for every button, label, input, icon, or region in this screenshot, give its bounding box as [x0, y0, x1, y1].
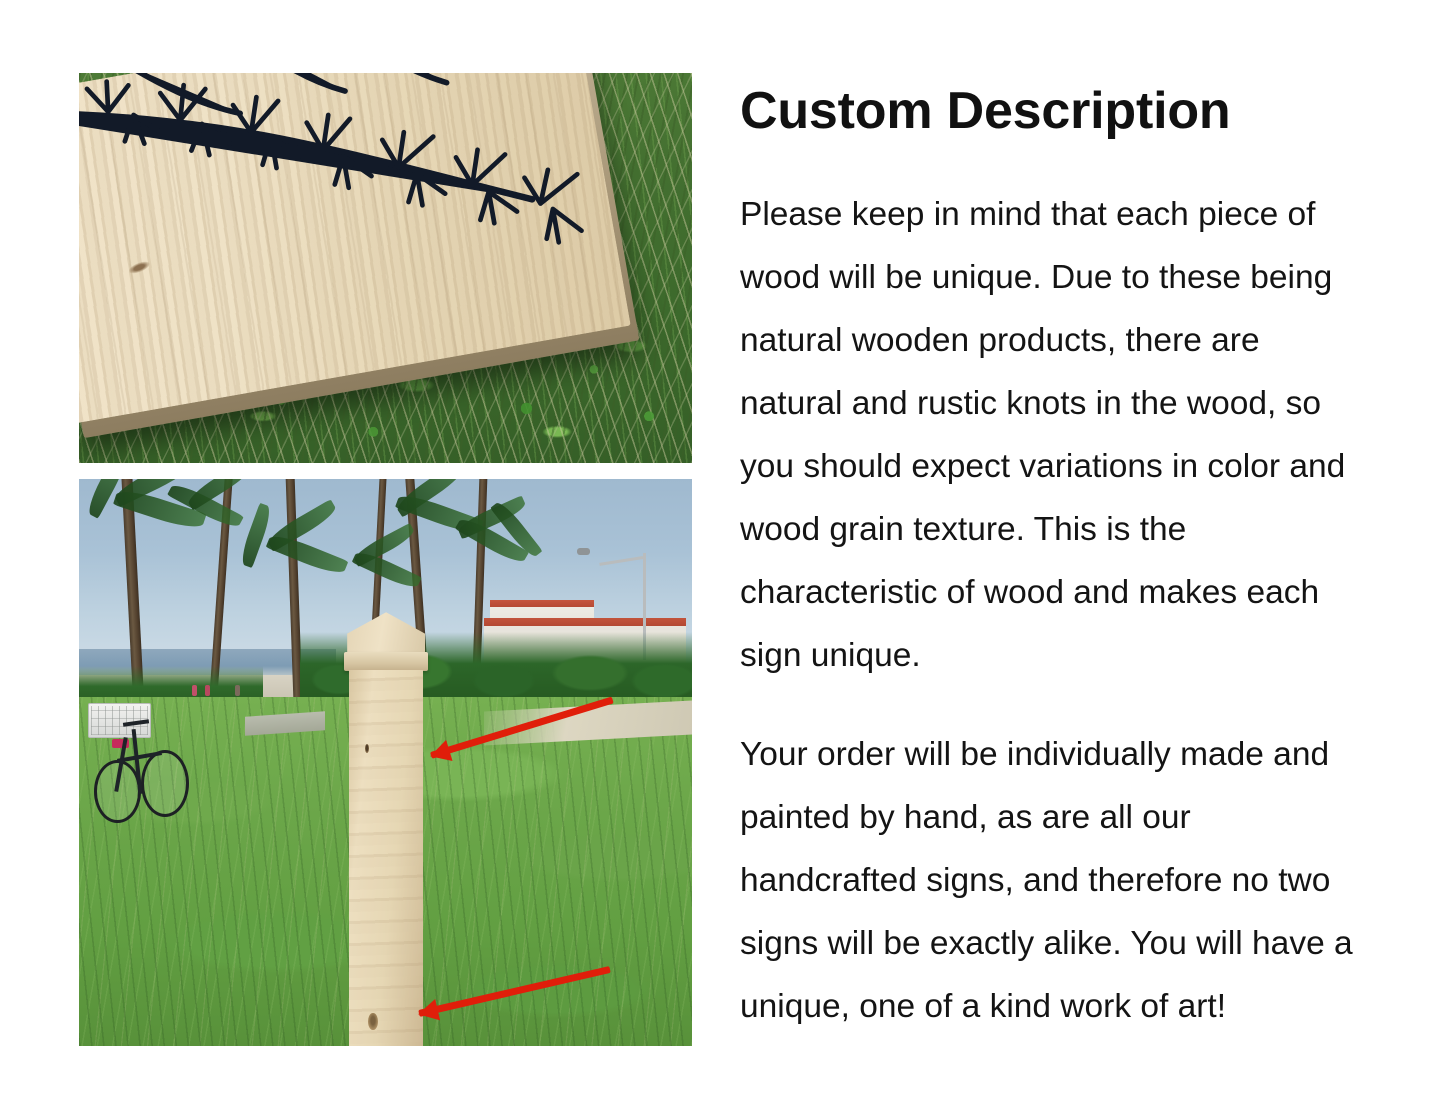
post-collar: [344, 652, 429, 671]
wooden-post-beach-park-image: [79, 479, 692, 1046]
paragraph-wood-variation-notice: Please keep in mind that each piece of w…: [740, 183, 1370, 687]
beach-person: [205, 685, 210, 696]
bicycle: [88, 700, 189, 830]
page-title: Custom Description: [740, 84, 1370, 139]
post-pointed-cap: [347, 612, 425, 653]
beach-person: [192, 685, 197, 696]
paragraph-handmade-notice: Your order will be individually made and…: [740, 723, 1370, 1038]
wooden-sign-board-image: [79, 73, 692, 463]
post-photo-inner: [79, 479, 692, 1046]
lamp-head: [577, 548, 590, 555]
post-knot-bottom: [368, 1013, 378, 1030]
post-knot-top: [365, 744, 369, 753]
beach-person: [235, 685, 240, 696]
post-body: [349, 670, 423, 1046]
bicycle-wheel: [141, 750, 190, 818]
sign-photo-inner: [79, 73, 692, 463]
description-text-column: Custom Description Please keep in mind t…: [740, 84, 1370, 1038]
wooden-post: [344, 612, 429, 1046]
product-description-page: Custom Description Please keep in mind t…: [0, 0, 1445, 1115]
